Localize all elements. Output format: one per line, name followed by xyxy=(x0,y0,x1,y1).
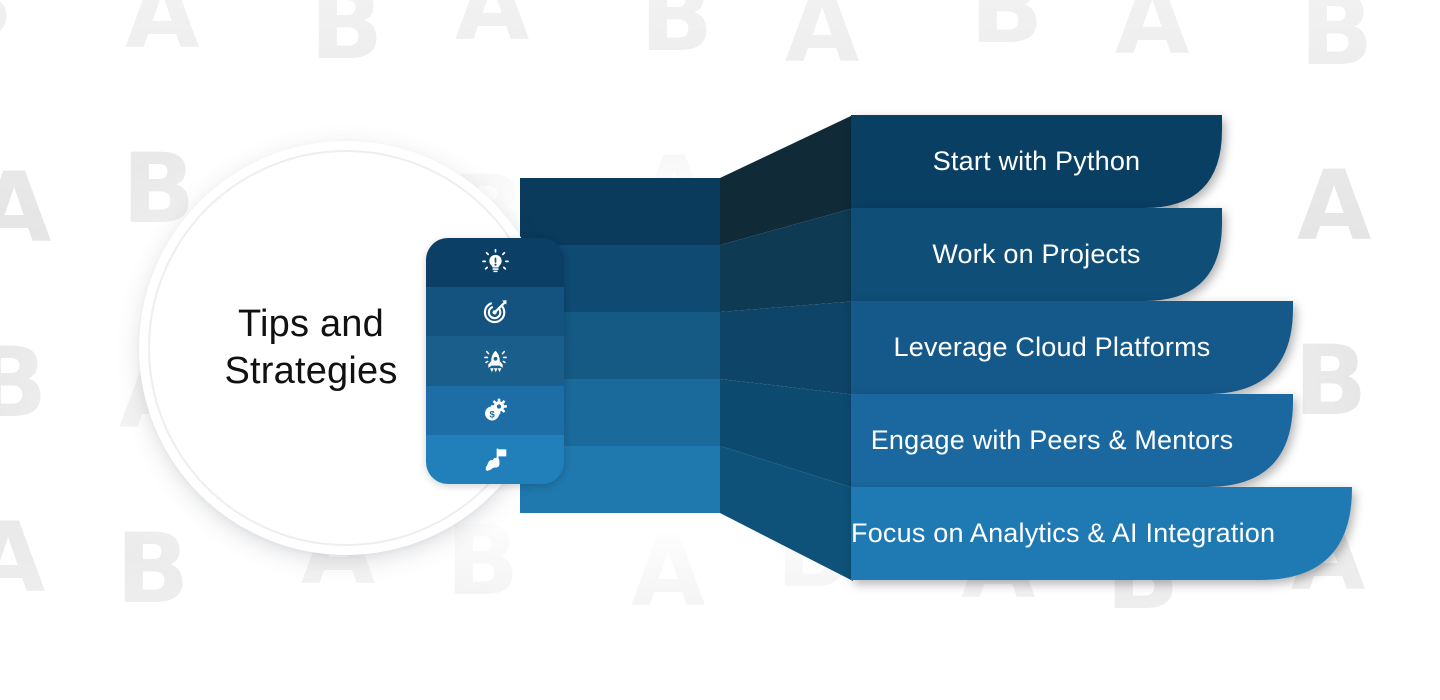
banner-label: Work on Projects xyxy=(851,239,1222,270)
icon-strip-cell[interactable] xyxy=(426,435,564,484)
banner-item[interactable]: Focus on Analytics & AI Integration xyxy=(851,487,1352,580)
banner-label: Focus on Analytics & AI Integration xyxy=(851,518,1253,549)
banner-label: Start with Python xyxy=(851,146,1222,177)
banner-item[interactable]: Engage with Peers & Mentors xyxy=(851,394,1293,487)
funnel-band xyxy=(720,301,853,394)
watermark-letter: B xyxy=(1300,0,1369,79)
watermark-letter: B xyxy=(0,0,9,51)
svg-text:$: $ xyxy=(489,409,495,420)
icon-strip: $ xyxy=(426,238,564,484)
watermark-letter: B xyxy=(970,0,1039,57)
icon-strip-cell[interactable] xyxy=(426,238,564,287)
watermark-letter: B xyxy=(310,0,379,73)
banner-item[interactable]: Leverage Cloud Platforms xyxy=(851,301,1293,394)
watermark-letter: A xyxy=(785,0,855,76)
lightbulb-idea-icon xyxy=(482,249,509,276)
money-gear-icon: $ xyxy=(482,397,509,424)
watermark-letter: B xyxy=(640,0,709,65)
watermark-letter: A xyxy=(0,160,47,256)
rocket-launch-icon xyxy=(482,348,509,375)
watermark-letter: B xyxy=(0,335,43,431)
infographic-canvas: BABABABABABABABABABABABABABABABABABA Sta… xyxy=(0,0,1440,700)
watermark-letter: A xyxy=(1115,0,1185,68)
funnel-connector xyxy=(720,112,853,582)
banner-label: Leverage Cloud Platforms xyxy=(851,332,1253,363)
watermark-letter: A xyxy=(125,0,195,62)
block-band xyxy=(520,178,721,245)
hand-flag-icon xyxy=(482,446,509,473)
page-title: Tips and Strategies xyxy=(166,146,456,550)
banner-item[interactable]: Work on Projects xyxy=(851,208,1222,301)
watermark-letter: A xyxy=(0,510,41,606)
banner-list: Start with PythonWork on ProjectsLeverag… xyxy=(851,115,1371,581)
watermark-letter: A xyxy=(455,0,525,54)
banner-item[interactable]: Start with Python xyxy=(851,115,1222,208)
watermark-letter: A xyxy=(631,524,701,620)
target-dartboard-icon xyxy=(482,298,509,325)
icon-strip-cell[interactable] xyxy=(426,287,564,336)
icon-strip-cell[interactable] xyxy=(426,336,564,385)
icon-strip-cell[interactable]: $ xyxy=(426,386,564,435)
banner-label: Engage with Peers & Mentors xyxy=(851,425,1253,456)
